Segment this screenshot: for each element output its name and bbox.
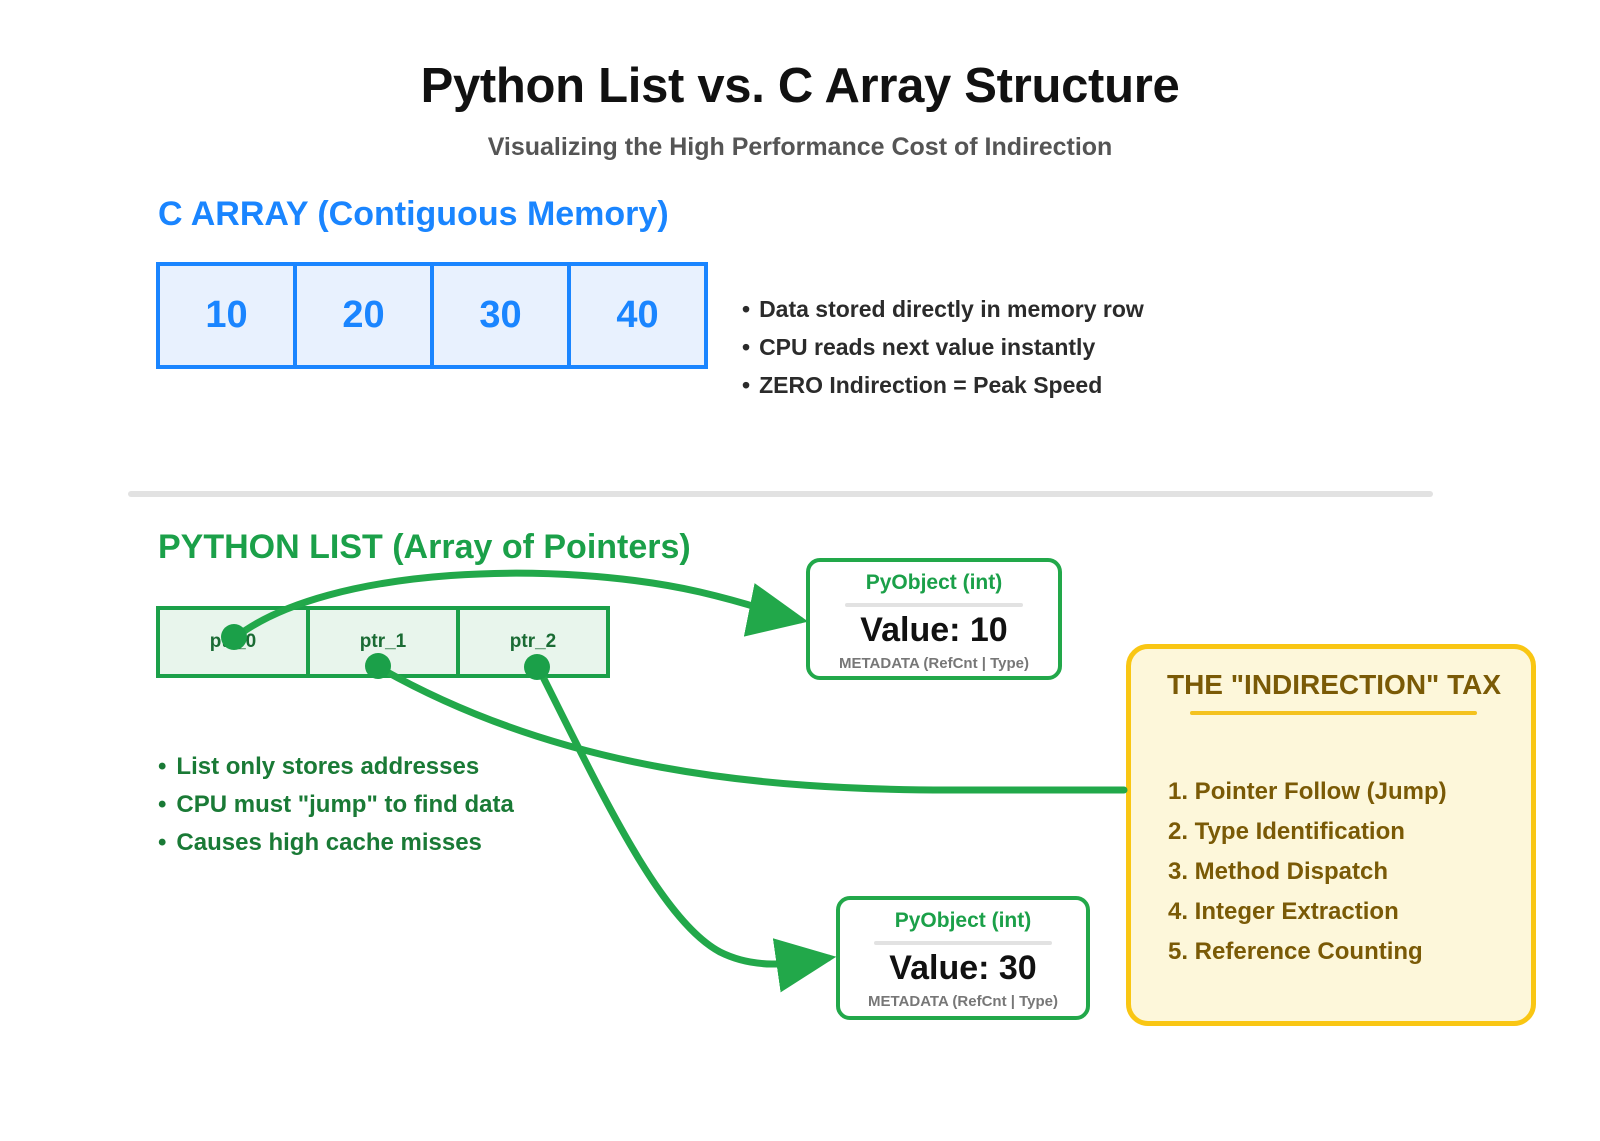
indirection-tax-title: THE "INDIRECTION" TAX xyxy=(1114,669,1554,701)
c-array-heading: C ARRAY (Contiguous Memory) xyxy=(158,195,669,234)
c-array-cell: 20 xyxy=(297,266,434,365)
pyobject-title: PyObject (int) xyxy=(895,909,1032,933)
python-list-heading: PYTHON LIST (Array of Pointers) xyxy=(158,528,691,567)
pointer-cell: ptr_1 xyxy=(310,610,460,674)
list-item: Causes high cache misses xyxy=(158,824,514,862)
c-array-cell: 30 xyxy=(434,266,571,365)
list-item: CPU must "jump" to find data xyxy=(158,786,514,824)
list-item: 2. Type Identification xyxy=(1168,812,1447,852)
arrow-ptr2-to-pyobject2 xyxy=(539,669,828,964)
page-subtitle: Visualizing the High Performance Cost of… xyxy=(0,133,1600,162)
indirection-tax-divider xyxy=(1190,711,1477,715)
pyobject-value: Value: 10 xyxy=(860,611,1007,650)
list-item: 5. Reference Counting xyxy=(1168,932,1447,972)
list-item: CPU reads next value instantly xyxy=(742,328,1144,366)
page-title: Python List vs. C Array Structure xyxy=(0,58,1600,114)
c-array-cell: 40 xyxy=(571,266,704,365)
diagram-canvas: Python List vs. C Array Structure Visual… xyxy=(0,0,1600,1141)
list-item: Data stored directly in memory row xyxy=(742,290,1144,328)
pyobject-card: PyObject (int) Value: 30 METADATA (RefCn… xyxy=(836,896,1090,1020)
c-array-cell: 10 xyxy=(160,266,297,365)
python-list-bullet-list: List only stores addresses CPU must "jum… xyxy=(158,748,514,862)
list-item: ZERO Indirection = Peak Speed xyxy=(742,366,1144,404)
list-item: 4. Integer Extraction xyxy=(1168,892,1447,932)
python-pointer-row: ptr_0 ptr_1 ptr_2 xyxy=(156,606,610,678)
section-divider xyxy=(128,491,1433,497)
pyobject-divider xyxy=(845,603,1024,607)
pyobject-value: Value: 30 xyxy=(889,949,1036,988)
pointer-cell: ptr_2 xyxy=(460,610,606,674)
pyobject-metadata: METADATA (RefCnt | Type) xyxy=(839,655,1029,672)
pyobject-title: PyObject (int) xyxy=(866,571,1003,595)
list-item: 3. Method Dispatch xyxy=(1168,852,1447,892)
c-array-row: 10 20 30 40 xyxy=(156,262,708,369)
list-item: List only stores addresses xyxy=(158,748,514,786)
indirection-tax-list: 1. Pointer Follow (Jump) 2. Type Identif… xyxy=(1168,772,1447,972)
pointer-cell: ptr_0 xyxy=(160,610,310,674)
pyobject-metadata: METADATA (RefCnt | Type) xyxy=(868,993,1058,1010)
pyobject-divider xyxy=(874,941,1051,945)
list-item: 1. Pointer Follow (Jump) xyxy=(1168,772,1447,812)
c-array-bullet-list: Data stored directly in memory row CPU r… xyxy=(742,290,1144,404)
pyobject-card: PyObject (int) Value: 10 METADATA (RefCn… xyxy=(806,558,1062,680)
